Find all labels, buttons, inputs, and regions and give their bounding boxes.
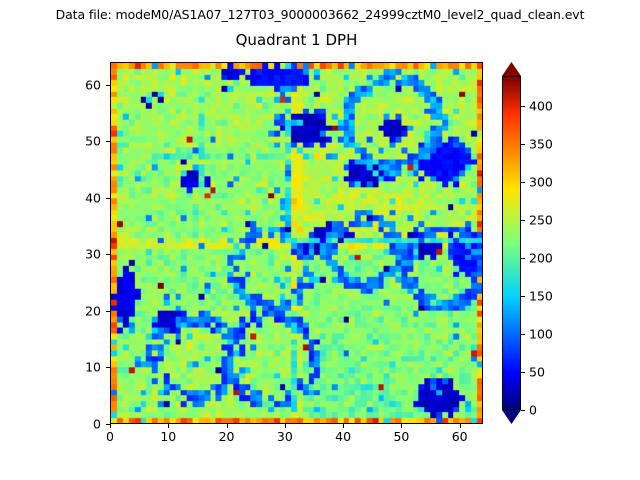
y-axis-tick-label: 10 xyxy=(68,360,101,375)
y-axis-tick xyxy=(106,424,110,425)
colorbar-tick xyxy=(521,296,525,297)
colorbar-tick-label: 200 xyxy=(529,251,553,266)
colorbar-tick xyxy=(521,144,525,145)
colorbar-tick xyxy=(521,372,525,373)
y-axis-tick xyxy=(106,367,110,368)
x-axis-tick xyxy=(227,424,228,428)
x-axis-tick-label: 10 xyxy=(160,429,176,444)
x-axis-tick-label: 30 xyxy=(277,429,293,444)
y-axis-tick-label: 0 xyxy=(68,417,101,432)
y-axis-tick-label: 60 xyxy=(68,77,101,92)
colorbar-tick-label: 150 xyxy=(529,289,553,304)
colorbar-tick xyxy=(521,106,525,107)
x-axis-tick xyxy=(168,424,169,428)
x-axis-tick-label: 0 xyxy=(106,429,114,444)
y-axis-tick xyxy=(106,141,110,142)
matplotlib-figure: Data file: modeM0/AS1A07_127T03_90000036… xyxy=(0,0,640,480)
y-axis-tick xyxy=(106,311,110,312)
colorbar-tick xyxy=(521,220,525,221)
colorbar-tick xyxy=(521,182,525,183)
colorbar-tick-label: 350 xyxy=(529,137,553,152)
x-axis-tick-label: 20 xyxy=(219,429,235,444)
colorbar-gradient xyxy=(502,76,521,410)
colorbar-tick-label: 50 xyxy=(529,365,545,380)
y-axis-tick xyxy=(106,85,110,86)
colorbar-tick-label: 300 xyxy=(529,175,553,190)
heatmap-image[interactable] xyxy=(111,63,482,423)
y-axis-tick-label: 50 xyxy=(68,134,101,149)
colorbar[interactable]: 050100150200250300350400 xyxy=(502,62,528,424)
colorbar-extend-max-arrow xyxy=(502,62,521,76)
x-axis-tick xyxy=(110,424,111,428)
page-title: Quadrant 1 DPH xyxy=(110,31,483,49)
colorbar-extend-min-arrow xyxy=(502,410,521,424)
colorbar-tick-label: 0 xyxy=(529,403,537,418)
colorbar-tick xyxy=(521,410,525,411)
x-axis-tick xyxy=(401,424,402,428)
y-axis-tick xyxy=(106,254,110,255)
heatmap-axes[interactable] xyxy=(110,62,483,424)
x-axis-tick xyxy=(285,424,286,428)
data-file-suptitle: Data file: modeM0/AS1A07_127T03_90000036… xyxy=(0,7,640,22)
x-axis-tick-label: 50 xyxy=(393,429,409,444)
x-axis-tick-label: 60 xyxy=(452,429,468,444)
y-axis-tick-label: 30 xyxy=(68,247,101,262)
y-axis-tick-label: 20 xyxy=(68,303,101,318)
colorbar-tick-label: 100 xyxy=(529,327,553,342)
colorbar-tick-label: 400 xyxy=(529,99,553,114)
y-axis-tick xyxy=(106,198,110,199)
x-axis-tick xyxy=(343,424,344,428)
x-axis-tick-label: 40 xyxy=(335,429,351,444)
colorbar-tick xyxy=(521,258,525,259)
colorbar-tick xyxy=(521,334,525,335)
colorbar-tick-label: 250 xyxy=(529,213,553,228)
x-axis-tick xyxy=(460,424,461,428)
y-axis-tick-label: 40 xyxy=(68,190,101,205)
